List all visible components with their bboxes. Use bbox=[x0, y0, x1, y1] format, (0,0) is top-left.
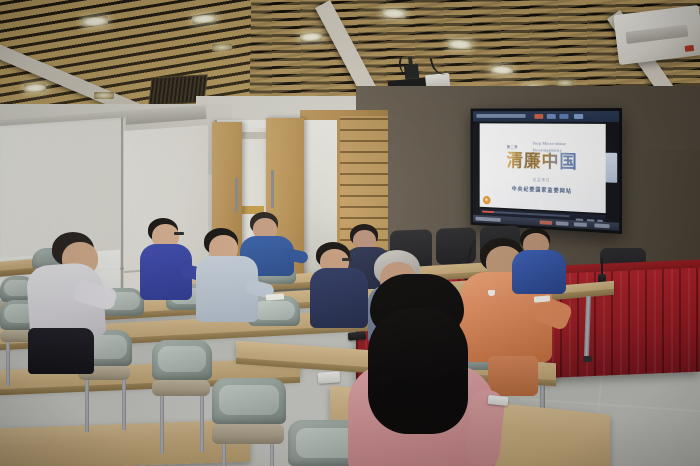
smartphone-white-2[interactable] bbox=[488, 395, 509, 406]
recessed-light-10 bbox=[448, 39, 472, 49]
browser-chip-2 bbox=[547, 114, 556, 119]
classroom-photo: 第二季 Stop Micro-abuse Incorruptibility 清廉… bbox=[0, 0, 700, 466]
video-subtitle-label: 出品单位 bbox=[493, 176, 592, 185]
recessed-light-6 bbox=[94, 92, 114, 99]
attendee-trousers bbox=[28, 328, 94, 374]
recessed-light-1 bbox=[82, 16, 109, 27]
video-title-chinese: 清廉中国 bbox=[493, 151, 592, 172]
smartphone-white[interactable] bbox=[318, 371, 341, 384]
recessed-light-5 bbox=[24, 83, 46, 92]
browser-chip-1 bbox=[534, 114, 543, 119]
smartphone-dark[interactable] bbox=[348, 331, 367, 340]
glasses-icon-2 bbox=[342, 258, 352, 261]
glasses-icon bbox=[174, 232, 184, 235]
projection-screen[interactable]: 第二季 Stop Micro-abuse Incorruptibility 清廉… bbox=[471, 108, 622, 234]
video-player-area[interactable]: 第二季 Stop Micro-abuse Incorruptibility 清廉… bbox=[480, 123, 606, 213]
play-badge-icon[interactable] bbox=[483, 196, 491, 205]
recessed-light-4 bbox=[300, 32, 322, 41]
video-season-label: 第二季 bbox=[507, 144, 518, 149]
taskbar-clock[interactable] bbox=[594, 223, 609, 228]
door-handle-left[interactable] bbox=[235, 178, 238, 212]
video-producer: 中央纪委国家监委网站 bbox=[493, 184, 592, 196]
long-hair bbox=[368, 308, 468, 434]
browser-url-bar[interactable] bbox=[476, 114, 525, 118]
paper-sheet bbox=[266, 293, 284, 300]
taskbar-item-2[interactable] bbox=[540, 220, 552, 225]
video-side-panel[interactable] bbox=[606, 153, 617, 183]
recessed-light-2 bbox=[192, 14, 216, 24]
progress-fill bbox=[482, 211, 494, 213]
paper-cup[interactable] bbox=[488, 290, 495, 296]
recessed-light-9 bbox=[382, 9, 406, 19]
browser-chip-4 bbox=[574, 114, 583, 119]
browser-chip-3 bbox=[559, 114, 568, 119]
taskbar-item-4[interactable] bbox=[574, 222, 587, 227]
taskbar-item-1[interactable] bbox=[476, 217, 501, 222]
recessed-light-3 bbox=[212, 43, 232, 51]
taskbar-item-3[interactable] bbox=[556, 221, 569, 226]
desk-caster bbox=[583, 356, 592, 362]
recessed-light-11 bbox=[491, 65, 513, 74]
door-handle-right[interactable] bbox=[271, 170, 274, 208]
cassette-ac-unit bbox=[613, 5, 700, 65]
blind-pull-cord[interactable] bbox=[121, 117, 123, 303]
browser-toolbar[interactable] bbox=[473, 111, 619, 122]
